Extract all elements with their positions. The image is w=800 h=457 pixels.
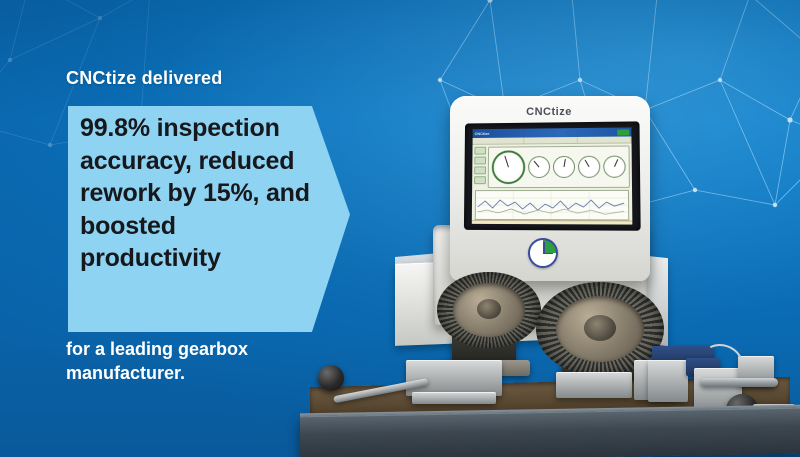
gauge-secondary	[528, 156, 550, 178]
slide-center	[556, 372, 632, 398]
hmi-side-buttons[interactable]	[474, 147, 486, 188]
hmi-status-indicator	[617, 129, 629, 135]
gauge-secondary	[578, 156, 600, 178]
hmi-screen[interactable]: CNCtize	[472, 127, 633, 224]
kicker-text: CNCtize delivered	[66, 68, 222, 89]
slide-left	[406, 360, 502, 396]
hmi-side-button[interactable]	[474, 166, 486, 174]
gauge-needle	[534, 161, 540, 168]
hmi-toolbar-cell[interactable]	[473, 138, 525, 144]
hmi-toolbar-cell[interactable]	[578, 136, 632, 143]
slide-right-b	[648, 360, 688, 402]
gear-inspection-machine: CNCtize CNCtize	[300, 60, 800, 457]
gauge-needle	[585, 160, 590, 167]
monitor-brand-text: CNCtize	[526, 106, 572, 118]
gear-right-hub	[584, 315, 616, 341]
gauge-secondary	[553, 156, 575, 178]
hmi-alert-text	[475, 223, 603, 224]
gauge-needle	[614, 159, 618, 167]
footnote-text: for a leading gearbox manufacturer.	[66, 338, 336, 386]
monitor-brand-logo: CNCtize	[505, 104, 593, 119]
hmi-side-button[interactable]	[474, 157, 486, 165]
machine-base	[300, 408, 800, 457]
gauge-needle	[504, 156, 509, 168]
promotional-banner: CNCtize CNCtize	[0, 0, 800, 457]
gauge-secondary	[603, 156, 626, 178]
hmi-trend-chart	[475, 190, 629, 221]
gauge-primary	[492, 150, 526, 184]
hmi-side-button[interactable]	[474, 176, 486, 184]
hmi-alert-bar	[472, 220, 633, 225]
gear-left-hub	[477, 299, 501, 319]
gauge-needle	[563, 159, 565, 167]
hmi-toolbar-cell[interactable]	[525, 137, 578, 143]
hmi-gauge-row	[472, 143, 632, 190]
hmi-app-title: CNCtize	[475, 131, 490, 136]
gear-left	[437, 272, 541, 348]
cnctize-badge-icon	[528, 238, 558, 268]
hmi-side-button[interactable]	[474, 147, 486, 155]
slide-left-lower	[412, 392, 496, 404]
monitor-screen-frame: CNCtize	[464, 121, 641, 230]
hmi-gauges-panel	[488, 145, 630, 188]
headline-text: 99.8% inspection accuracy, reduced rewor…	[80, 112, 316, 275]
